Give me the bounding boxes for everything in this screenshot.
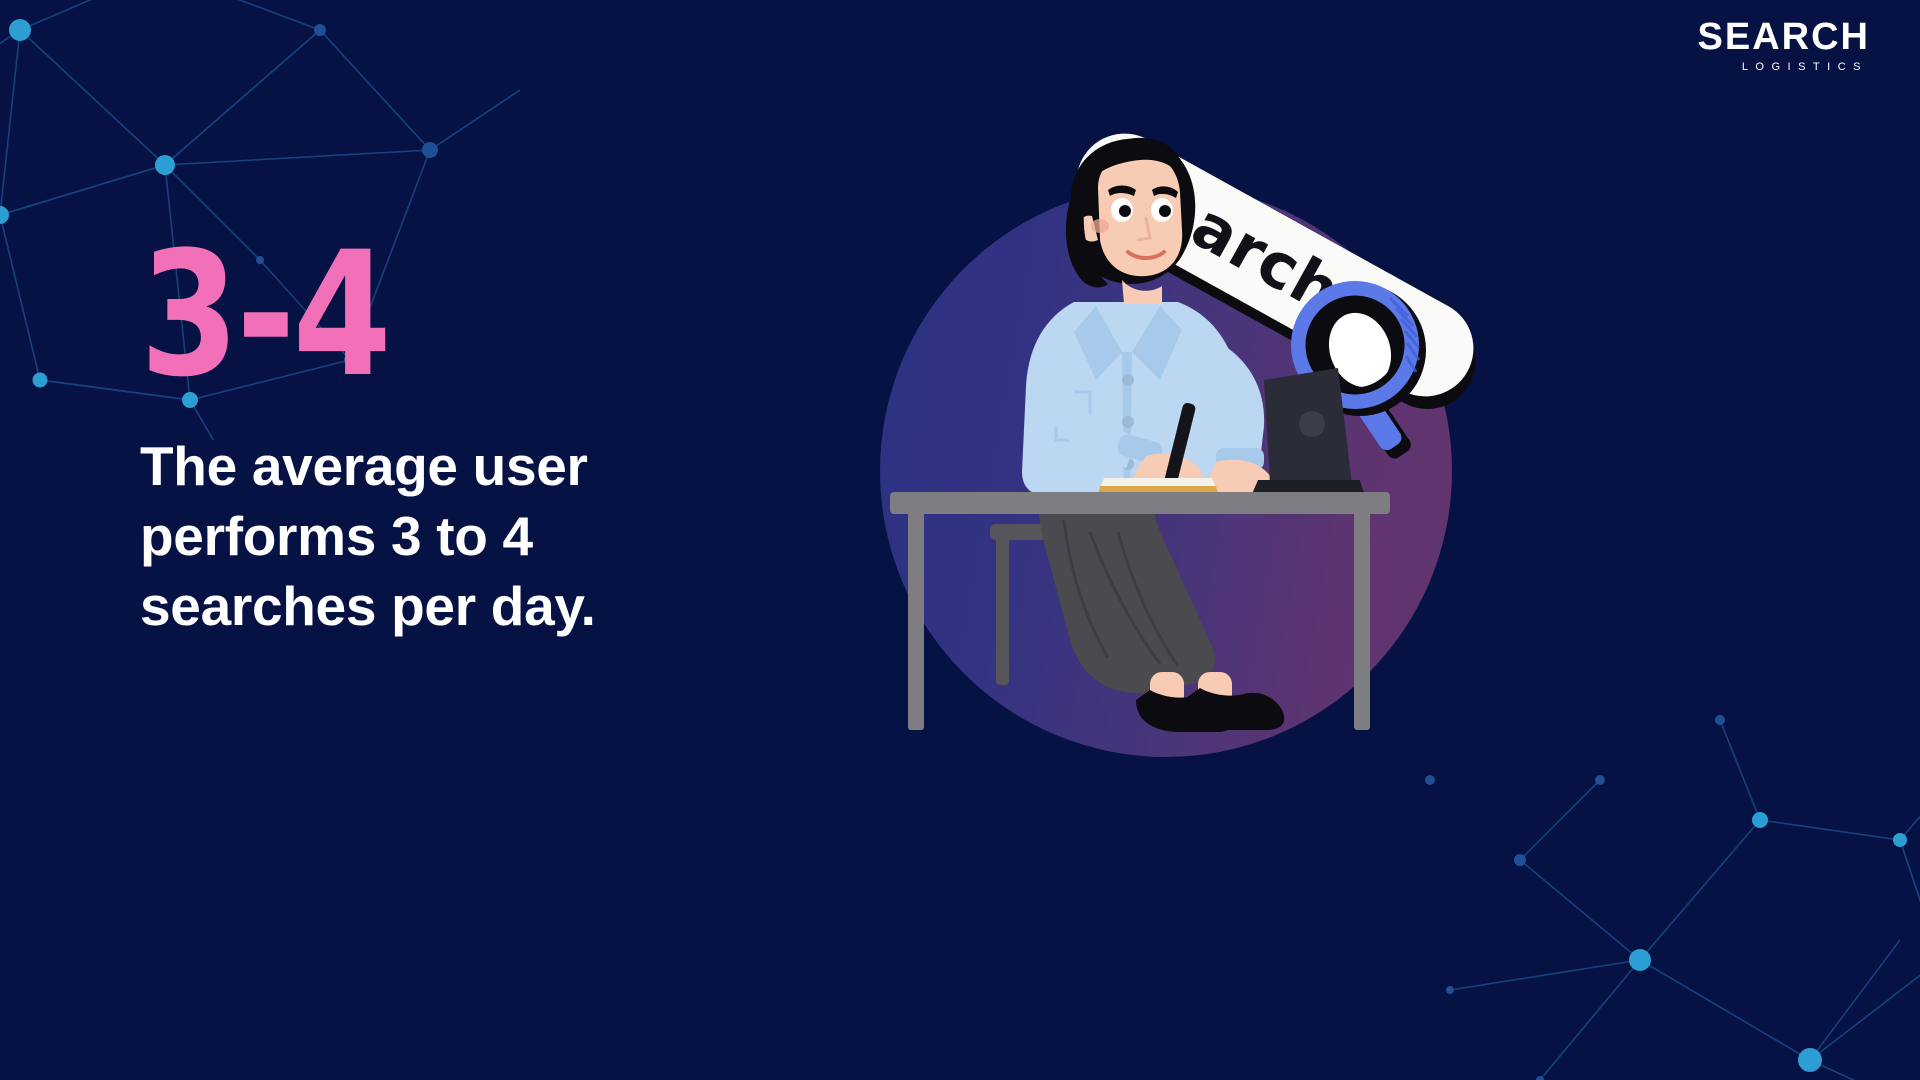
illustration-scene: search — [860, 80, 1480, 780]
brand-logo-main: SEARCH — [1698, 18, 1870, 56]
stat-description: The average user performs 3 to 4 searche… — [140, 432, 700, 642]
stat-value: 3-4 — [140, 236, 729, 394]
notebook-graphic — [1098, 478, 1218, 494]
illustration: search — [860, 80, 1480, 780]
shoes-graphic — [1136, 688, 1284, 732]
infographic-canvas: SEARCH LOGISTICS 3-4 The average user pe… — [0, 0, 1920, 1080]
head-graphic — [1066, 138, 1195, 304]
brand-logo-sub: LOGISTICS — [1698, 61, 1868, 73]
stat-block: 3-4 The average user performs 3 to 4 sea… — [140, 236, 780, 642]
brand-logo[interactable]: SEARCH LOGISTICS — [1698, 18, 1870, 73]
